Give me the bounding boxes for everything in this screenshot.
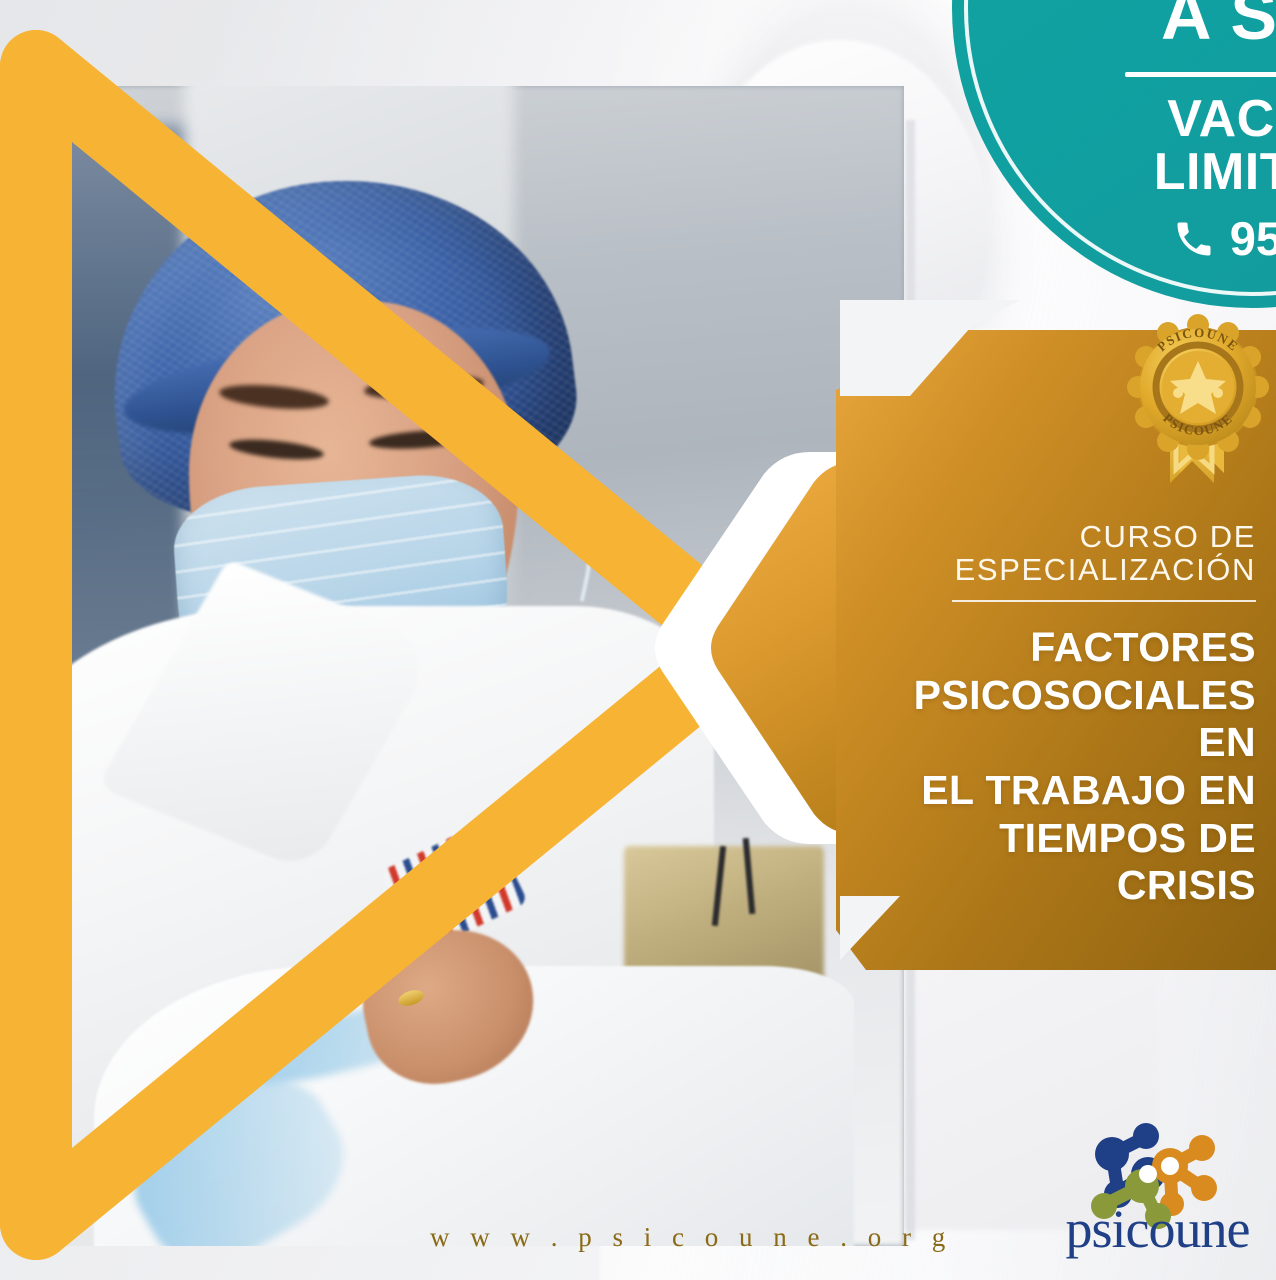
website-url[interactable]: w w w . p s i c o u n e . o r g — [430, 1222, 952, 1253]
phone-icon — [1172, 217, 1216, 261]
course-text-block: CURSO DE ESPECIALIZACIÓN FACTORES PSICOS… — [876, 520, 1256, 910]
price-label: A S/. — [1000, 0, 1276, 50]
kicker-line-2: ESPECIALIZACIÓN — [876, 553, 1256, 586]
phone-number: 958 — [1230, 211, 1276, 266]
price-circle-content: A S/. VACA LIMITA 958 — [1000, 0, 1276, 266]
course-title-line-4: TIEMPOS DE — [876, 815, 1256, 863]
promotional-poster: A S/. VACA LIMITA 958 — [0, 0, 1276, 1280]
course-title-line-3: EL TRABAJO EN — [876, 767, 1256, 815]
kicker-rule — [952, 600, 1256, 602]
price-divider — [1125, 72, 1276, 77]
seats-label-line1: VACA — [1000, 93, 1276, 146]
course-title-line-2: PSICOSOCIALES EN — [876, 672, 1256, 767]
badge-seal: PSICOUNE PSICOUNE — [1127, 314, 1269, 460]
course-title-line-1: FACTORES — [876, 624, 1256, 672]
seats-label-line2: LIMITA — [1000, 146, 1276, 199]
kicker-line-1: CURSO DE — [876, 520, 1256, 553]
course-title-line-5: CRISIS — [876, 862, 1256, 910]
quality-badge: PSICOUNE PSICOUNE — [1118, 305, 1276, 495]
phone-row[interactable]: 958 — [1000, 211, 1276, 266]
brand-wordmark: psicoune — [1050, 1202, 1265, 1256]
